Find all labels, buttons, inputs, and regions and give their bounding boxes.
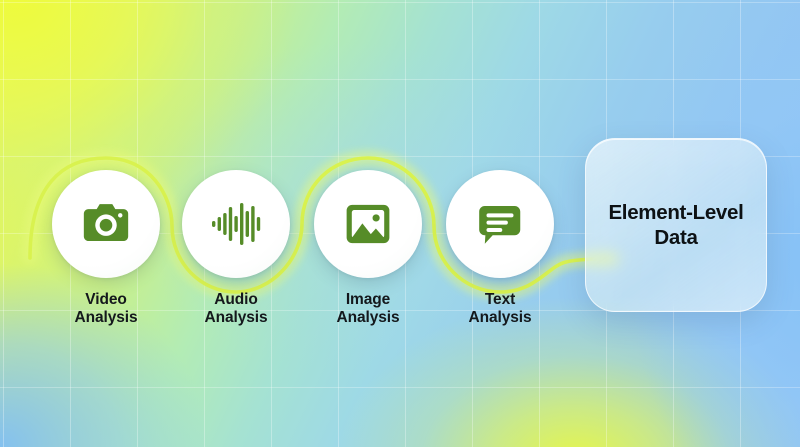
flow-node-video-label-line2: Analysis	[40, 309, 172, 327]
flow-node-audio-label-line1: Audio	[214, 291, 257, 308]
element-level-data-card-line1: Element-Level	[608, 201, 743, 224]
flow-node-audio-label-line2: Analysis	[170, 309, 302, 327]
flow-node-audio-label: Audio Analysis	[170, 291, 302, 326]
flow-node-audio[interactable]: Audio Analysis	[170, 170, 302, 326]
audio-waveform-icon	[208, 196, 264, 252]
flow-node-video-label: Video Analysis	[40, 291, 172, 326]
image-picture-icon	[341, 197, 395, 251]
flow-node-text[interactable]: Text Analysis	[434, 170, 566, 326]
element-level-data-card-line2: Data	[608, 225, 743, 250]
speech-bubble-text-icon	[473, 197, 527, 251]
flow-node-text-label-line1: Text	[485, 291, 515, 308]
flow-node-video-circle[interactable]	[52, 170, 160, 278]
flow-node-text-label-line2: Analysis	[434, 309, 566, 327]
flow-node-text-circle[interactable]	[446, 170, 554, 278]
flow-node-image-label-line1: Image	[346, 291, 390, 308]
flow-node-text-label: Text Analysis	[434, 291, 566, 326]
element-level-data-card[interactable]: Element-Level Data	[585, 138, 767, 312]
flow-node-image-circle[interactable]	[314, 170, 422, 278]
element-level-data-card-text: Element-Level Data	[608, 200, 743, 250]
camera-icon	[78, 196, 134, 252]
flow-node-video-label-line1: Video	[85, 291, 126, 308]
flow-node-audio-circle[interactable]	[182, 170, 290, 278]
flow-node-video[interactable]: Video Analysis	[40, 170, 172, 326]
flow-node-image-label-line2: Analysis	[302, 309, 434, 327]
flow-node-image[interactable]: Image Analysis	[302, 170, 434, 326]
flow-node-image-label: Image Analysis	[302, 291, 434, 326]
infographic-canvas: Video Analysis Audio	[0, 0, 800, 447]
